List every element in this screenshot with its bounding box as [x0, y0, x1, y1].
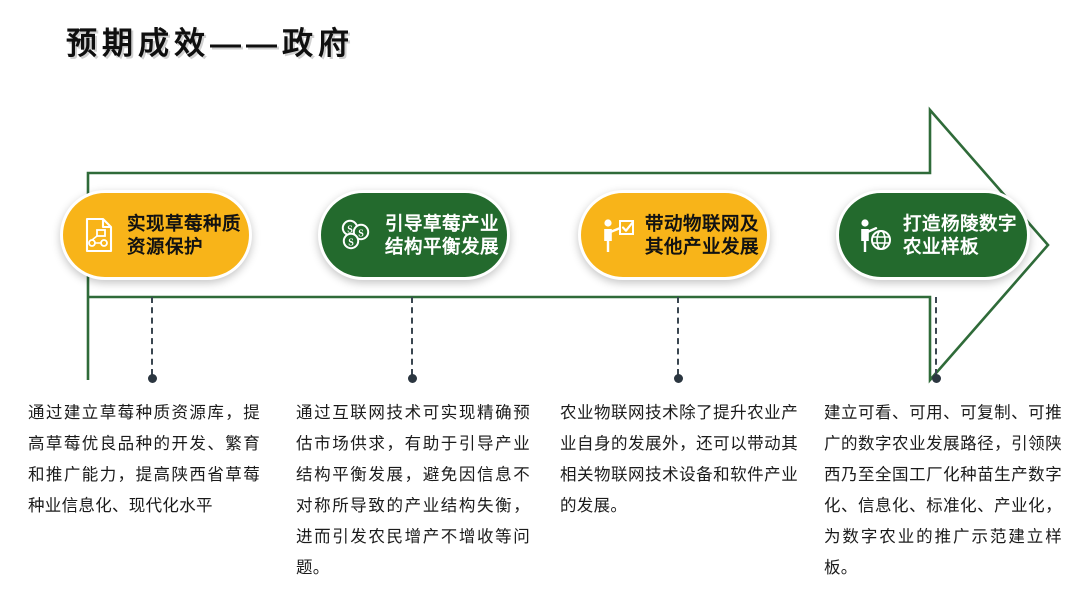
connector-stem: [935, 297, 937, 375]
step-pill-1[interactable]: 实现草莓种质 资源保护: [60, 190, 252, 280]
step-pill-4[interactable]: 打造杨陵数字 农业样板: [836, 190, 1030, 280]
connector-line-3: [677, 297, 679, 375]
step-pill-3[interactable]: 带动物联网及 其他产业发展: [578, 190, 770, 280]
connector-stem: [677, 297, 679, 375]
connector-dot: [674, 374, 683, 383]
step-description-2: 通过互联网技术可实现精确预估市场供求，有助于引导产业结构平衡发展，避免因信息不对…: [296, 398, 530, 584]
coins-money-icon: S S S: [337, 213, 377, 257]
step-pill-label: 带动物联网及 其他产业发展: [645, 212, 759, 258]
step-pill-label: 引导草莓产业 结构平衡发展: [385, 212, 499, 258]
document-flowchart-icon: [79, 213, 119, 257]
step-pill-2[interactable]: S S S 引导草莓产业 结构平衡发展: [318, 190, 510, 280]
person-checklist-icon: [597, 213, 637, 257]
slide-canvas: 预期成效——政府 实现草莓种质 资源保护 S S S: [0, 0, 1080, 609]
svg-text:S: S: [348, 238, 354, 249]
connector-line-2: [411, 297, 413, 375]
connector-dot: [932, 374, 941, 383]
svg-text:S: S: [358, 229, 364, 240]
connector-line-4: [935, 297, 937, 375]
step-description-1: 通过建立草莓种质资源库，提高草莓优良品种的开发、繁育和推广能力，提高陕西省草莓种…: [28, 398, 260, 522]
connector-dot: [408, 374, 417, 383]
step-description-3: 农业物联网技术除了提升农业产业自身的发展外，还可以带动其相关物联网技术设备和软件…: [560, 398, 798, 522]
step-pill-label: 打造杨陵数字 农业样板: [903, 212, 1017, 258]
step-pill-label: 实现草莓种质 资源保护: [127, 212, 241, 258]
connector-stem: [151, 297, 153, 375]
step-description-4: 建立可看、可用、可复制、可推广的数字农业发展路径，引领陕西乃至全国工厂化种苗生产…: [824, 398, 1062, 584]
connector-stem: [411, 297, 413, 375]
person-globe-icon: [855, 213, 895, 257]
connector-line-1: [151, 297, 153, 375]
page-title: 预期成效——政府: [66, 18, 354, 63]
connector-dot: [148, 374, 157, 383]
